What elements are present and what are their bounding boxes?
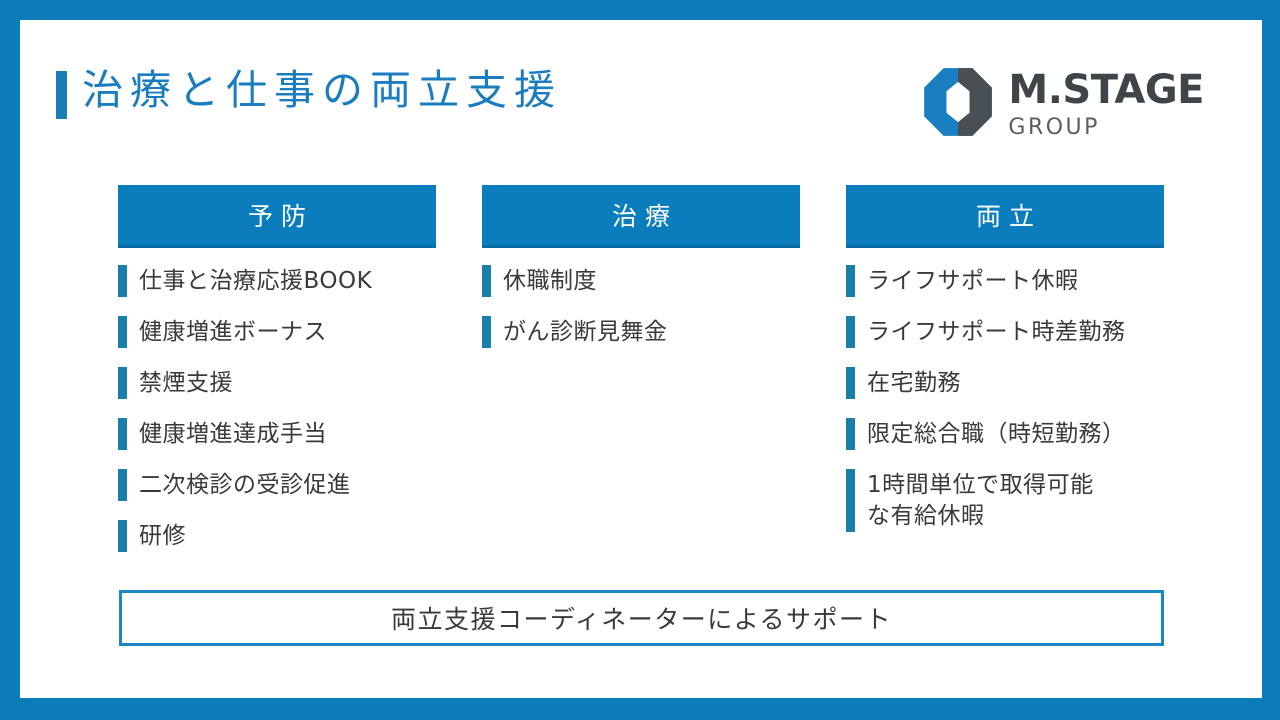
logo-wordmark: M.STAGE GROUP — [1008, 66, 1204, 141]
logo-subtitle: GROUP — [1008, 115, 1204, 141]
list-item-label: ライフサポート休暇 — [867, 265, 1079, 297]
m-stage-octagon-logo-icon — [922, 66, 994, 138]
bullet-bar-icon — [846, 418, 855, 450]
bullet-bar-icon — [118, 418, 127, 450]
list-item: 1時間単位で取得可能 な有給休暇 — [846, 469, 1164, 532]
list-item: ライフサポート休暇 — [846, 265, 1164, 297]
list-item: 限定総合職（時短勤務） — [846, 418, 1164, 450]
list-item-label: 在宅勤務 — [867, 367, 961, 399]
list-item-label: がん診断見舞金 — [503, 316, 668, 348]
column-balance: 両立 ライフサポート休暇 ライフサポート時差勤務 在宅勤務 — [846, 185, 1164, 552]
bullet-bar-icon — [118, 265, 127, 297]
bullet-bar-icon — [482, 316, 491, 348]
brand-logo: M.STAGE GROUP — [922, 66, 1204, 141]
slide-white-panel: 治療と仕事の両立支援 M.STAGE GROUP 予防 — [20, 20, 1262, 698]
logo-name: M.STAGE — [1008, 69, 1204, 111]
column-header-balance: 両立 — [846, 185, 1164, 248]
bullet-bar-icon — [846, 316, 855, 348]
list-item-label: 休職制度 — [503, 265, 597, 297]
column-header-prevention: 予防 — [118, 185, 436, 248]
list-item-label: 限定総合職（時短勤務） — [867, 418, 1126, 450]
list-item-label: 健康増進達成手当 — [139, 418, 327, 450]
list-item: 仕事と治療応援BOOK — [118, 265, 436, 297]
title-row: 治療と仕事の両立支援 M.STAGE GROUP — [56, 68, 1236, 160]
title-accent-bar — [56, 71, 67, 119]
bullet-bar-icon — [118, 520, 127, 552]
list-item: 健康増進達成手当 — [118, 418, 436, 450]
list-item-label: ライフサポート時差勤務 — [867, 316, 1126, 348]
bullet-bar-icon — [482, 265, 491, 297]
list-item-label: 仕事と治療応援BOOK — [139, 265, 372, 297]
support-banner-text: 両立支援コーディネーターによるサポート — [391, 600, 892, 636]
list-item-label: 二次検診の受診促進 — [139, 469, 351, 501]
column-prevention: 予防 仕事と治療応援BOOK 健康増進ボーナス 禁煙支援 — [118, 185, 436, 552]
list-item: 健康増進ボーナス — [118, 316, 436, 348]
column-treatment: 治療 休職制度 がん診断見舞金 — [482, 185, 800, 552]
page-title: 治療と仕事の両立支援 — [82, 58, 562, 122]
support-banner: 両立支援コーディネーターによるサポート — [119, 590, 1164, 646]
columns-container: 予防 仕事と治療応援BOOK 健康増進ボーナス 禁煙支援 — [118, 185, 1164, 552]
column-items-treatment: 休職制度 がん診断見舞金 — [482, 265, 800, 348]
list-item: 休職制度 — [482, 265, 800, 297]
list-item: 研修 — [118, 520, 436, 552]
bullet-bar-icon — [118, 469, 127, 501]
list-item-label: 研修 — [139, 520, 186, 552]
bullet-bar-icon — [118, 316, 127, 348]
column-items-prevention: 仕事と治療応援BOOK 健康増進ボーナス 禁煙支援 健康増進達成手当 — [118, 265, 436, 552]
list-item-label: 禁煙支援 — [139, 367, 233, 399]
list-item: がん診断見舞金 — [482, 316, 800, 348]
list-item: 禁煙支援 — [118, 367, 436, 399]
list-item: 在宅勤務 — [846, 367, 1164, 399]
list-item: ライフサポート時差勤務 — [846, 316, 1164, 348]
bullet-bar-icon — [846, 367, 855, 399]
list-item-label: 健康増進ボーナス — [139, 316, 327, 348]
list-item-label: 1時間単位で取得可能 な有給休暇 — [867, 469, 1094, 532]
bullet-bar-icon — [118, 367, 127, 399]
column-header-treatment: 治療 — [482, 185, 800, 248]
column-items-balance: ライフサポート休暇 ライフサポート時差勤務 在宅勤務 限定総合職（時短勤務） — [846, 265, 1164, 532]
bullet-bar-icon — [846, 469, 855, 532]
bullet-bar-icon — [846, 265, 855, 297]
slide-root: 治療と仕事の両立支援 M.STAGE GROUP 予防 — [0, 0, 1280, 720]
list-item: 二次検診の受診促進 — [118, 469, 436, 501]
